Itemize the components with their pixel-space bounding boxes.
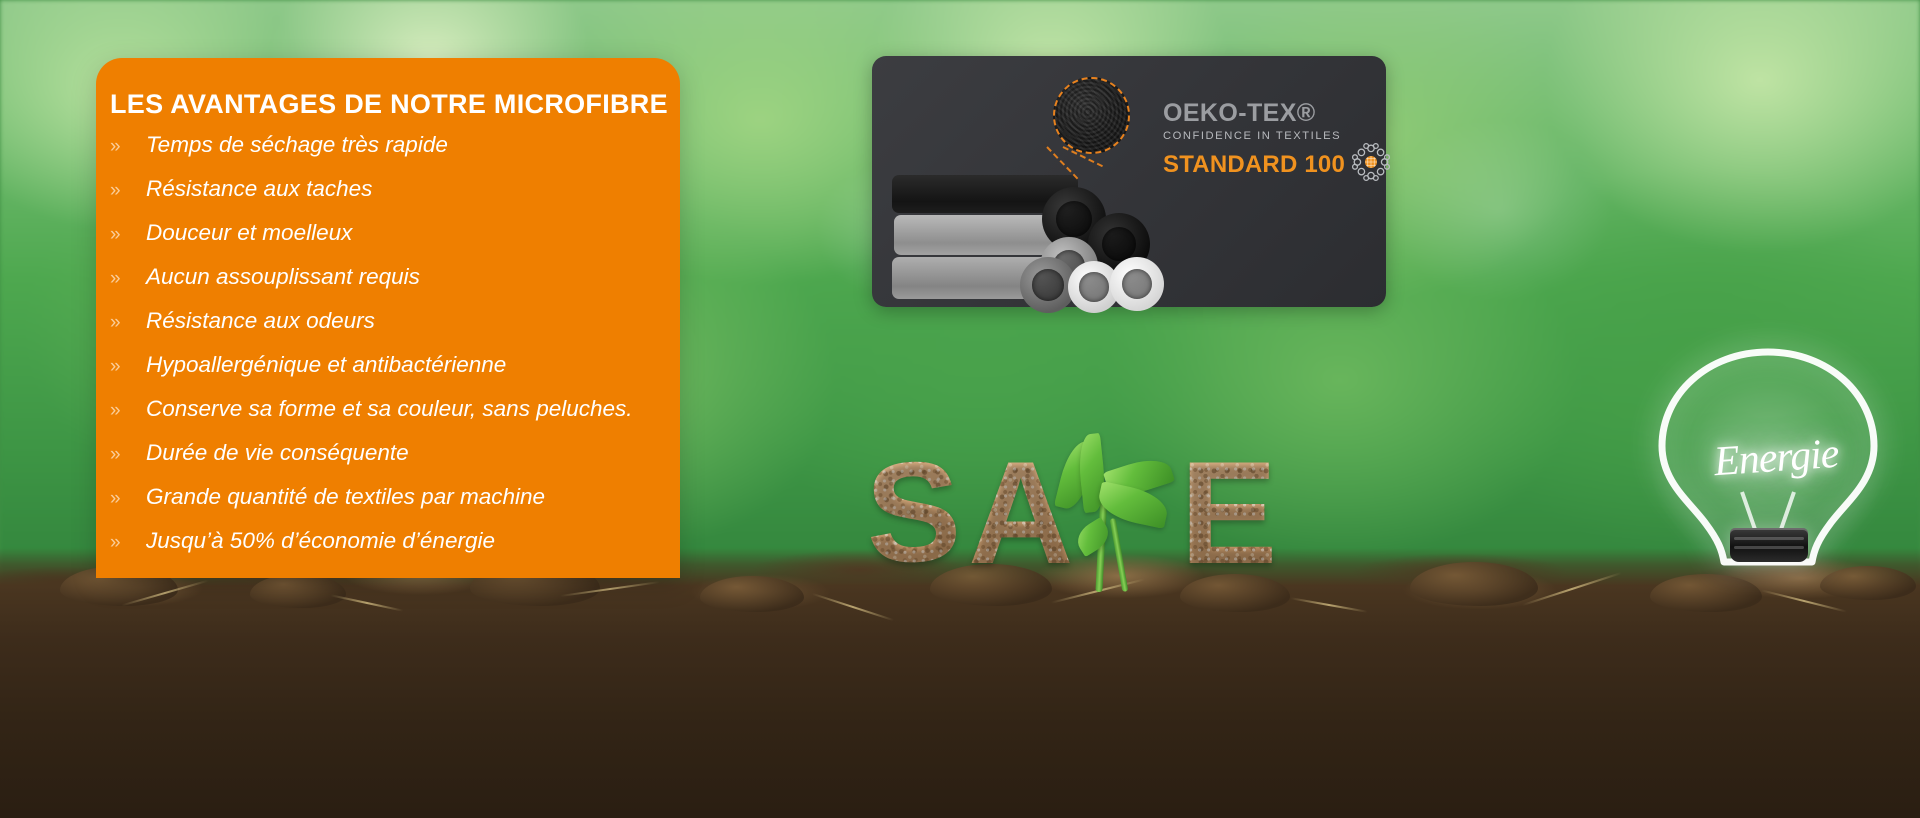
chevron-double-right-icon: » [110, 445, 146, 464]
chevron-double-right-icon: » [110, 401, 146, 420]
benefit-label: Douceur et moelleux [146, 222, 680, 245]
benefit-label: Temps de séchage très rapide [146, 134, 680, 157]
benefit-label: Grande quantité de textiles par machine [146, 486, 680, 509]
oeko-tex-wordmark: OEKO-TEX® [1163, 101, 1378, 126]
benefits-title: LES AVANTAGES DE NOTRE MICROFIBRE [96, 58, 680, 120]
sprout-letter-v [1058, 432, 1178, 592]
cork-letter-e: E [1180, 440, 1277, 586]
list-item: » Résistance aux taches [110, 178, 680, 222]
chevron-double-right-icon: » [110, 225, 146, 244]
chevron-double-right-icon: » [110, 489, 146, 508]
chevron-double-right-icon: » [110, 357, 146, 376]
list-item: » Résistance aux odeurs [110, 310, 680, 354]
list-item: » Grande quantité de textiles par machin… [110, 486, 680, 530]
benefit-label: Durée de vie conséquente [146, 442, 680, 465]
list-item: » Temps de séchage très rapide [110, 134, 680, 178]
microfibre-benefits-banner: LES AVANTAGES DE NOTRE MICROFIBRE » Temp… [0, 0, 1920, 818]
oeko-tex-tagline: CONFIDENCE IN TEXTILES [1163, 131, 1378, 142]
benefit-label: Résistance aux odeurs [146, 310, 680, 333]
bulb-metal-base [1730, 528, 1808, 562]
oeko-tex-flower-icon [1351, 142, 1391, 182]
oeko-tex-standard-label: STANDARD 100 [1163, 153, 1345, 177]
list-item: » Durée de vie conséquente [110, 442, 680, 486]
list-item: » Hypoallergénique et antibactérienne [110, 354, 680, 398]
benefit-label: Conserve sa forme et sa couleur, sans pe… [146, 398, 680, 421]
chevron-double-right-icon: » [110, 533, 146, 552]
towel-stack-image [892, 175, 1212, 301]
chevron-double-right-icon: » [110, 269, 146, 288]
list-item: » Douceur et moelleux [110, 222, 680, 266]
benefits-panel: LES AVANTAGES DE NOTRE MICROFIBRE » Temp… [96, 58, 680, 578]
list-item: » Jusqu’à 50% d’économie d’énergie [110, 530, 680, 574]
benefit-label: Aucun assouplissant requis [146, 266, 680, 289]
benefits-list: » Temps de séchage très rapide » Résista… [96, 120, 680, 574]
list-item: » Aucun assouplissant requis [110, 266, 680, 310]
benefit-label: Résistance aux taches [146, 178, 680, 201]
list-item: » Conserve sa forme et sa couleur, sans … [110, 398, 680, 442]
benefit-label: Jusqu’à 50% d’économie d’énergie [146, 530, 680, 553]
chevron-double-right-icon: » [110, 181, 146, 200]
magnified-fibre-bubble [1053, 77, 1130, 154]
chevron-double-right-icon: » [110, 313, 146, 332]
oeko-tex-logo: OEKO-TEX® CONFIDENCE IN TEXTILES STANDAR… [1163, 101, 1378, 182]
chevron-double-right-icon: » [110, 137, 146, 156]
cork-letter-s: S [864, 440, 964, 585]
benefit-label: Hypoallergénique et antibactérienne [146, 354, 680, 377]
light-bulb-graphic: Energie [1618, 342, 1918, 602]
